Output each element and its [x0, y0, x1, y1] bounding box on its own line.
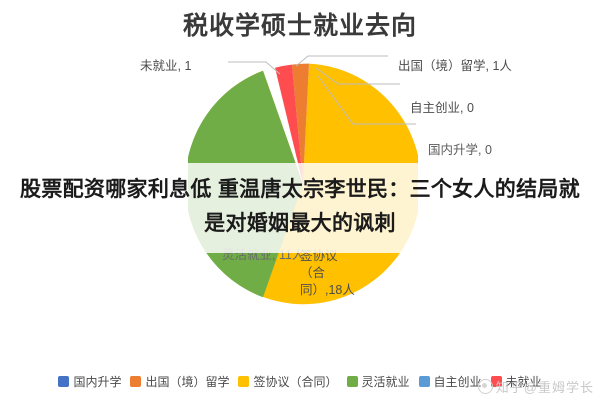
legend-label: 国内升学 — [73, 373, 121, 390]
legend-swatch-icon — [58, 376, 69, 387]
legend-label: 签协议（合同） — [253, 373, 337, 390]
legend-item-zizhuchuangye[interactable]: 自主创业 — [419, 373, 482, 390]
legend-item-qianxieyi[interactable]: 签协议（合同） — [238, 373, 337, 390]
pie-label-guoneishengxue: 国内升学, 0 — [428, 142, 492, 159]
pie-label-qianxieyi: 签协议（合同）,18人 — [300, 248, 362, 299]
legend-item-guoneishengxue[interactable]: 国内升学 — [58, 373, 121, 390]
watermark-text: 知乎@重姆学长 — [496, 377, 594, 396]
zhihu-logo-icon — [478, 379, 493, 394]
legend-label: 灵活就业 — [362, 373, 410, 390]
overlay-headline: 股票配资哪家利息低 重温唐太宗李世民：三个女人的结局就是对婚姻最大的讽刺 — [0, 163, 600, 253]
chart-title: 税收学硕士就业去向 — [0, 6, 600, 42]
legend-label: 出国（境）留学 — [145, 373, 229, 390]
legend-swatch-icon — [347, 376, 358, 387]
legend-item-chuguoliuxue[interactable]: 出国（境）留学 — [130, 373, 229, 390]
legend-swatch-icon — [130, 376, 141, 387]
legend-label: 自主创业 — [434, 373, 482, 390]
legend-swatch-icon — [419, 376, 430, 387]
legend-swatch-icon — [238, 376, 249, 387]
watermark: 知乎@重姆学长 — [478, 377, 594, 396]
chart-screenshot: 税收学硕士就业去向 未就业, 1 出国（境） — [0, 0, 600, 400]
pie-label-zizhuchuangye: 自主创业, 0 — [410, 100, 474, 117]
pie-label-chuguoliuxue: 出国（境）留学, 1人 — [398, 58, 512, 75]
pie-label-weijiuye: 未就业, 1 — [140, 58, 191, 75]
legend-item-linghuojiuye[interactable]: 灵活就业 — [347, 373, 410, 390]
